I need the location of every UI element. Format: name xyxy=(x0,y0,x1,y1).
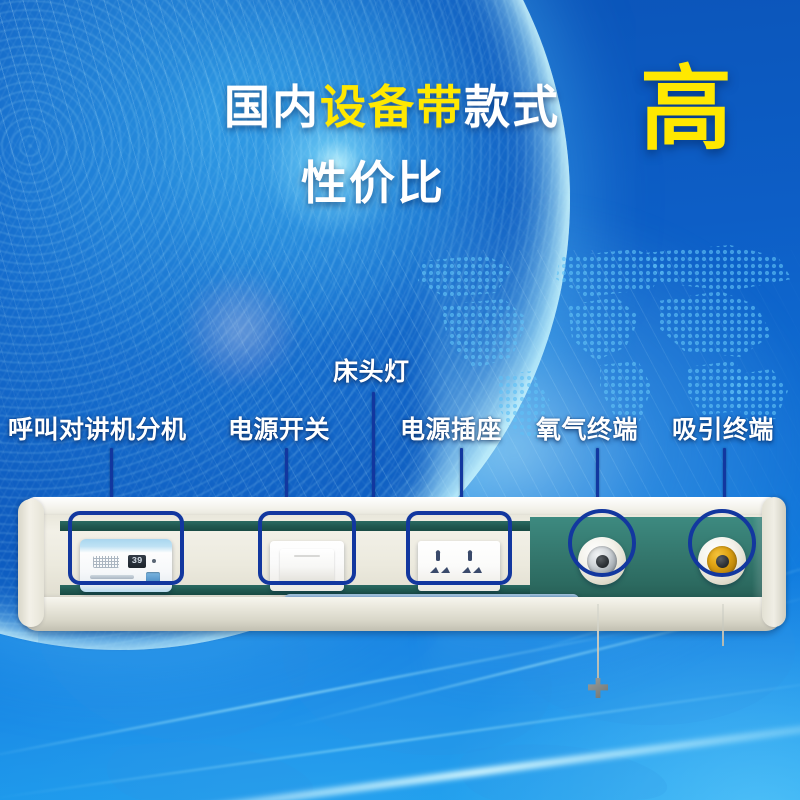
suction-hose-cord xyxy=(722,604,724,646)
intercom-unit[interactable]: 39 xyxy=(80,539,172,592)
headline-line-1: 国内设备带款式 xyxy=(0,84,800,130)
oxygen-terminal-port xyxy=(596,555,609,568)
suction-terminal-unit[interactable] xyxy=(698,537,746,585)
intercom-display: 39 xyxy=(128,555,146,568)
power-switch-unit[interactable] xyxy=(270,541,344,591)
suction-terminal-ring xyxy=(707,546,737,576)
headline-part-1: 国内 xyxy=(224,81,320,133)
oxygen-hose-cord xyxy=(597,604,599,684)
switch-rocker[interactable] xyxy=(280,549,334,583)
headline-part-2: 设备带 xyxy=(320,81,464,133)
panel-body: 39 xyxy=(22,515,782,605)
bed-head-unit-panel: 39 xyxy=(22,497,782,637)
indicator-led-icon xyxy=(152,559,156,563)
panel-end-cap-left xyxy=(18,499,44,627)
oxygen-terminal-unit[interactable] xyxy=(578,537,626,585)
speaker-grille-icon xyxy=(93,556,119,568)
oxygen-terminal-ring xyxy=(587,546,617,576)
light-streak-main xyxy=(0,711,800,800)
callout-label-bed-lamp: 床头灯 xyxy=(333,360,410,385)
socket-pin-holes-icon xyxy=(427,549,491,583)
headline-subline: 性价比 xyxy=(301,157,445,209)
panel-end-cap-right xyxy=(762,497,786,627)
globe-atmosphere-glow xyxy=(430,180,800,720)
intercom-call-button[interactable] xyxy=(146,572,160,583)
intercom-speaker-slot xyxy=(90,575,134,579)
panel-stripe-top xyxy=(60,521,530,531)
callout-label-power-switch: 电源开关 xyxy=(228,418,330,443)
power-socket-unit[interactable] xyxy=(418,541,500,591)
panel-bottom-rail xyxy=(22,597,782,631)
callout-label-intercom: 呼叫对讲机分机 xyxy=(8,418,187,443)
headline-part-3: 款式 xyxy=(464,81,560,133)
suction-terminal-port xyxy=(716,555,729,568)
headline-emphasis: 高 xyxy=(640,64,734,156)
lens-flare xyxy=(180,270,300,390)
promo-banner: 国内设备带款式 性价比 高 呼叫对讲机分机 电源开关 床头灯 电源插座 氧气终端… xyxy=(0,0,800,800)
